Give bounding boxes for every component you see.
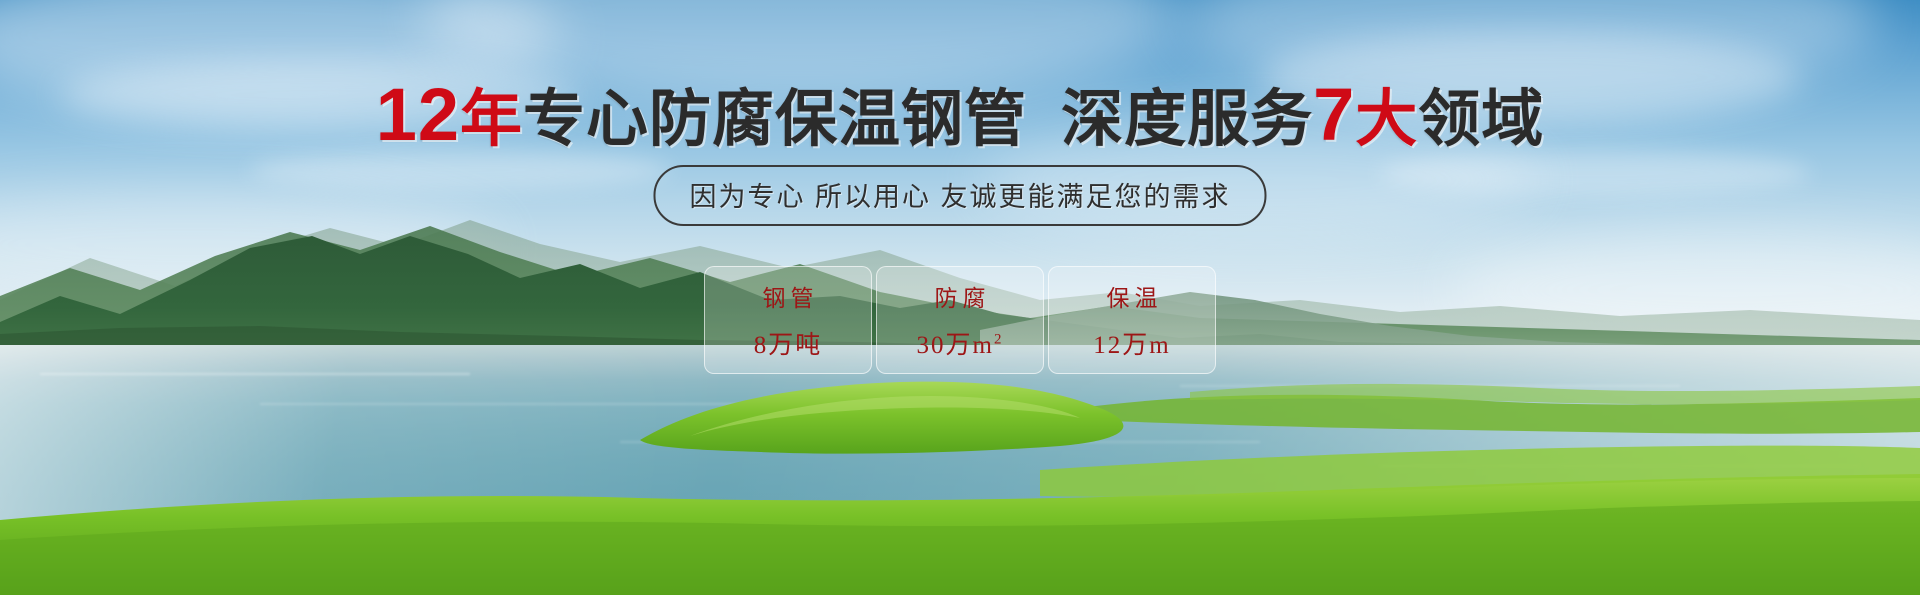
headline-fields-word: 领域: [1418, 85, 1544, 154]
headline: 12年专心防腐保温钢管深度服务7大领域: [0, 78, 1920, 152]
headline-years-unit: 年: [460, 85, 523, 154]
headline-main-phrase: 专心防腐保温钢管: [523, 85, 1027, 154]
hero-banner: 12年专心防腐保温钢管深度服务7大领域 因为专心 所以用心 友诚更能满足您的需求…: [0, 0, 1920, 595]
stat-card-label: 钢管: [758, 279, 819, 313]
stat-card-value-main: 8万吨: [754, 332, 823, 359]
headline-service-phrase: 深度服务: [1061, 85, 1313, 154]
stat-card-value: 8万吨: [754, 325, 823, 361]
headline-years-number: 12: [376, 73, 460, 156]
headline-fields-number: 7: [1313, 73, 1355, 156]
headline-fields-unit: 大: [1355, 85, 1418, 154]
stat-card-anticorrosion[interactable]: 防腐 30万m2: [876, 266, 1044, 374]
stat-card-steel-pipe[interactable]: 钢管 8万吨: [704, 266, 872, 374]
stat-card-value-main: 12万m: [1093, 332, 1170, 359]
stat-card-value-main: 30万m: [917, 332, 994, 359]
stat-card-value-superscript: 2: [994, 332, 1004, 348]
stat-card-label: 保温: [1102, 279, 1163, 313]
stat-card-label: 防腐: [930, 279, 991, 313]
subtitle-pill: 因为专心 所以用心 友诚更能满足您的需求: [653, 165, 1266, 226]
banner-content: 12年专心防腐保温钢管深度服务7大领域 因为专心 所以用心 友诚更能满足您的需求…: [0, 0, 1920, 595]
stat-card-insulation[interactable]: 保温 12万m: [1048, 266, 1216, 374]
stat-card-value: 30万m2: [917, 325, 1004, 361]
stat-card-value: 12万m: [1093, 325, 1170, 361]
stat-card-group: 钢管 8万吨 防腐 30万m2 保温 12万m: [704, 266, 1216, 374]
